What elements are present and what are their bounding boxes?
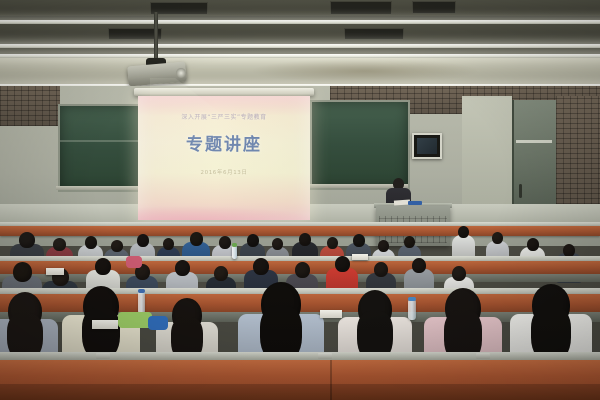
foreground-desk-front	[0, 384, 600, 400]
person-head	[374, 262, 388, 277]
ceiling-vent-5	[344, 28, 404, 40]
screen-roller-casing[interactable]	[134, 88, 314, 96]
ceiling-slab-1	[0, 0, 600, 16]
water-bottle	[138, 292, 145, 314]
chalkboard-divider-left	[60, 140, 140, 142]
ceiling-vent-1	[150, 2, 208, 15]
frame-image	[417, 138, 437, 154]
water-bottle	[232, 246, 237, 259]
ceiling-vent-2	[330, 1, 392, 15]
person-head	[295, 262, 310, 278]
slide-decorative-wave	[138, 192, 310, 220]
person-head	[335, 256, 350, 272]
person-head	[299, 233, 311, 246]
person-head	[253, 258, 269, 275]
slide-subtitle: 深入开展“三严三实”专题教育	[138, 112, 310, 121]
person-head	[527, 238, 539, 251]
person-head	[53, 238, 66, 251]
person-head	[19, 232, 35, 248]
person-head	[214, 266, 228, 281]
soffit-stain	[250, 58, 480, 84]
lectern-equipment	[408, 201, 422, 205]
projector-mount-pole	[154, 12, 158, 60]
bag	[118, 312, 152, 328]
person-head	[95, 258, 111, 275]
person-head	[111, 240, 123, 252]
person-head	[137, 234, 149, 247]
green-chalkboard-left	[58, 104, 144, 192]
chalk-rail-left	[56, 186, 144, 190]
desk-clip-3	[476, 353, 490, 359]
water-bottle	[408, 300, 416, 320]
person-head	[327, 237, 338, 249]
person-head	[190, 232, 203, 246]
person-head	[219, 236, 231, 249]
person-head	[13, 262, 32, 282]
wall-mounted-frame	[412, 133, 442, 159]
person-head	[452, 266, 466, 281]
person-head	[378, 240, 389, 252]
ceiling-vent-3	[412, 1, 456, 14]
person-head	[175, 260, 190, 276]
door-handle-icon[interactable]	[519, 184, 522, 198]
foreground-desk-edge	[0, 352, 600, 360]
person-head	[458, 226, 469, 238]
person-head	[492, 232, 503, 244]
ceiling-slab-2	[0, 24, 600, 42]
bag	[148, 316, 168, 330]
desk-clip-2	[318, 353, 332, 359]
person-head	[247, 234, 259, 247]
person-head	[85, 236, 97, 249]
notebook	[46, 268, 64, 275]
bottle-cap	[138, 289, 145, 293]
desk-seam	[330, 360, 332, 400]
ceiling-light-strip-3	[0, 54, 600, 58]
slide-date: 2016年6月13日	[138, 168, 310, 176]
person-head	[404, 236, 415, 248]
bottle-cap	[408, 297, 416, 301]
green-chalkboard-right	[310, 100, 410, 190]
lecture-hall-photo: 深入开展“三严三实”专题教育 专题讲座 2016年6月13日	[0, 0, 600, 400]
person-head	[353, 234, 365, 247]
brick-upper-wall-left	[0, 86, 60, 126]
notebook	[320, 310, 342, 318]
bag	[126, 256, 142, 268]
slide-title: 专题讲座	[138, 130, 310, 155]
bottle-cap	[232, 243, 237, 247]
person-head	[412, 258, 426, 273]
notebook	[352, 254, 368, 260]
desk-clip-1	[96, 353, 110, 359]
person-head	[272, 238, 283, 250]
door-transom-shelf	[516, 140, 552, 143]
person-head	[163, 238, 174, 250]
notebook	[92, 320, 118, 329]
